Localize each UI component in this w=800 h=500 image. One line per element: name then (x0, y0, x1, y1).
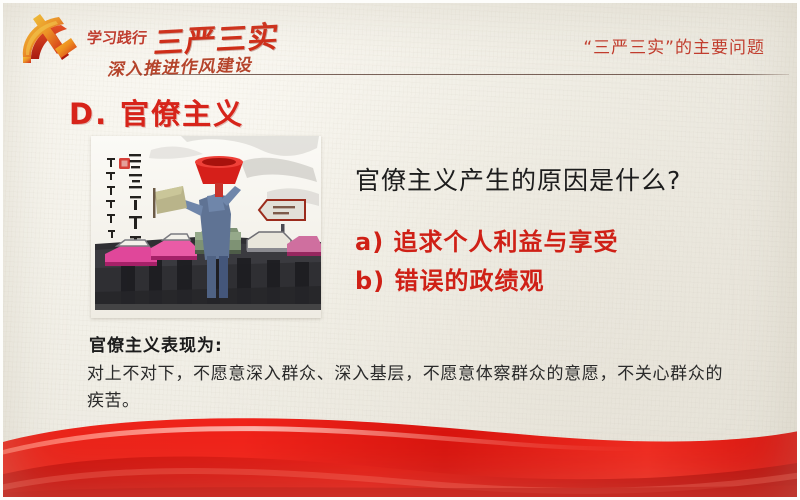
slide-canvas: 学习践行 三严三实 深入推进作风建设 “三严三实”的主要问题 D. 官僚主义 (0, 0, 800, 500)
brand-lockup: 学习践行 三严三实 深入推进作风建设 (87, 17, 267, 73)
cartoon-bureaucracy-illustration-icon (91, 136, 321, 318)
header-divider-line (129, 74, 789, 75)
brand-subtitle-calligraphy: 深入推进作风建设 (106, 50, 255, 80)
brand-line1: 学习践行 (86, 27, 148, 48)
header-topic-label: “三严三实”的主要问题 (583, 33, 765, 58)
page-title: D. 官僚主义 (69, 91, 244, 133)
option-b-marker: b) (355, 267, 385, 295)
option-a: a) 追求个人利益与享受 (355, 222, 619, 257)
slide-header: 学习践行 三严三实 深入推进作风建设 “三严三实”的主要问题 (3, 3, 800, 75)
cpc-hammer-sickle-emblem-icon (11, 11, 85, 71)
paragraph-heading: 官僚主义表现为: (89, 331, 223, 356)
question-text: 官僚主义产生的原因是什么? (355, 161, 681, 197)
option-a-marker: a) (355, 228, 384, 256)
option-a-label: 追求个人利益与享受 (394, 228, 619, 256)
option-b-label: 错误的政绩观 (395, 267, 545, 295)
option-b: b) 错误的政绩观 (355, 261, 545, 296)
paragraph-body: 对上不对下，不愿意深入群众、深入基层，不愿意体察群众的意愿，不关心群众的疾苦。 (87, 361, 723, 415)
